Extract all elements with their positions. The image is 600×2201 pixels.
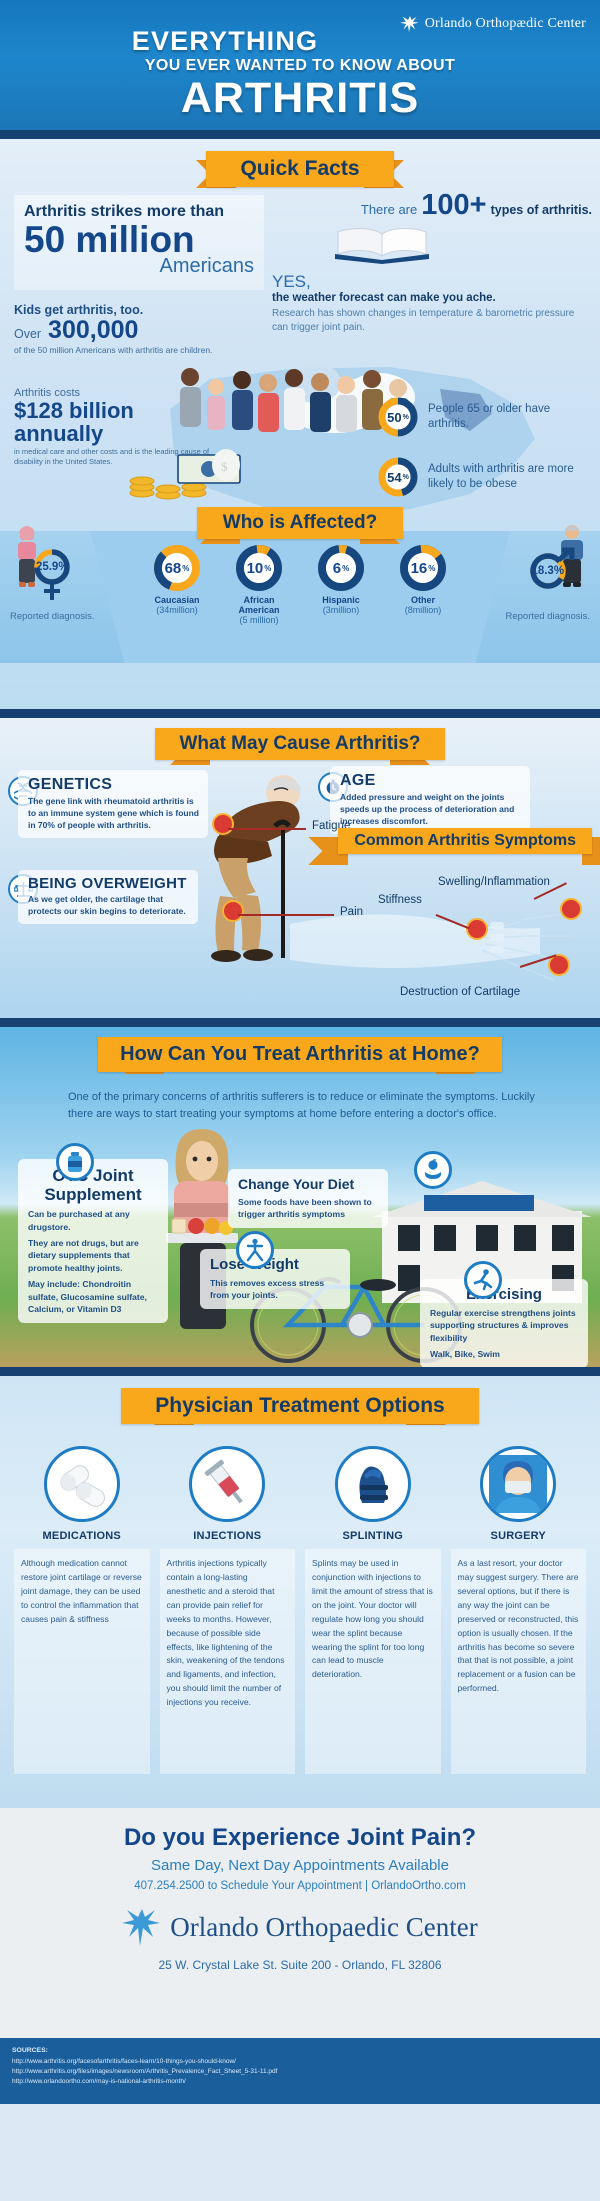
stat-65-or-older: 50% People 65 or older have arthritis. bbox=[378, 397, 588, 437]
quick-facts-banner: Quick Facts bbox=[0, 151, 600, 187]
types-number: 100+ bbox=[421, 189, 486, 222]
age-body: Added pressure and weight on the joints … bbox=[340, 791, 522, 827]
syringe-icon bbox=[189, 1446, 265, 1522]
kids-over: Over bbox=[14, 327, 41, 341]
footer-contact[interactable]: 407.254.2500 to Schedule Your Appointmen… bbox=[0, 1880, 600, 1892]
page-title: ARTHRITIS bbox=[0, 74, 600, 123]
section-divider-3 bbox=[0, 1367, 600, 1376]
footer-address: 25 W. Crystal Lake St. Suite 200 - Orlan… bbox=[0, 1958, 600, 1972]
option-body: As a last resort, your doctor may sugges… bbox=[451, 1549, 587, 1774]
money-graphic: $ bbox=[120, 441, 255, 507]
symptom-label-stiffness: Stiffness bbox=[378, 894, 422, 906]
quick-facts-section: Quick Facts bbox=[0, 139, 600, 709]
lose-weight-body: This removes excess stress from your joi… bbox=[210, 1277, 340, 1302]
donut-african-american: 10% bbox=[234, 543, 284, 593]
header-divider bbox=[0, 130, 600, 139]
donut-hispanic-value: 6 bbox=[333, 560, 341, 577]
types-suffix: types of arthritis. bbox=[491, 203, 592, 217]
brand-logo: Orlando Orthopædic Center bbox=[399, 14, 586, 34]
otc-body-2: They are not drugs, but are dietary supp… bbox=[28, 1237, 158, 1274]
ethnicity-group-list: 68% Caucasian (34million) 10% African Am… bbox=[0, 543, 600, 625]
ethnicity-name: Hispanic bbox=[304, 595, 378, 605]
physician-option: SPLINTING Splints may be used in conjunc… bbox=[305, 1446, 441, 1774]
svg-text:$: $ bbox=[221, 459, 228, 474]
footer-cta-section: Do you Experience Joint Pain? Same Day, … bbox=[0, 1808, 600, 2038]
physician-option: SURGERY As a last resort, your doctor ma… bbox=[451, 1446, 587, 1774]
genetics-body: The gene link with rheumatoid arthritis … bbox=[28, 795, 200, 831]
donut-african-american-pct: % bbox=[264, 564, 271, 573]
running-person-icon bbox=[464, 1261, 502, 1299]
stat-kids: Kids get arthritis, too. Over 300,000 of… bbox=[14, 303, 214, 357]
source-link[interactable]: http://www.arthritis.org/files/images/ne… bbox=[12, 2067, 588, 2077]
option-body: Although medication cannot restore joint… bbox=[14, 1549, 150, 1774]
footer-logo-text: Orlando Orthopaedic Center bbox=[170, 1912, 477, 1943]
otc-body-1: Can be purchased at any drugstore. bbox=[28, 1208, 158, 1233]
symptom-label-cartilage: Destruction of Cartilage bbox=[400, 986, 520, 998]
stat-strikes: Arthritis strikes more than 50 million A… bbox=[14, 195, 264, 290]
stat-65-text: People 65 or older have arthritis. bbox=[428, 402, 588, 432]
option-title: INJECTIONS bbox=[160, 1530, 296, 1542]
donut-54-value: 54 bbox=[387, 470, 401, 485]
causes-section: What May Cause Arthritis? bbox=[0, 718, 600, 1018]
weather-body: Research has shown changes in temperatur… bbox=[272, 307, 592, 335]
splint-icon bbox=[335, 1446, 411, 1522]
option-title: SURGERY bbox=[451, 1530, 587, 1542]
ethnicity-name: Other bbox=[386, 595, 460, 605]
ethnicity-count: (8million) bbox=[386, 605, 460, 615]
donut-50-value: 50 bbox=[387, 410, 401, 425]
option-title: SPLINTING bbox=[305, 1530, 441, 1542]
source-link[interactable]: http://www.arthritis.org/facesofarthriti… bbox=[12, 2057, 588, 2067]
donut-other: 16% bbox=[398, 543, 448, 593]
apple-in-hand-icon bbox=[414, 1151, 452, 1189]
diet-title: Change Your Diet bbox=[238, 1176, 378, 1192]
tip-lose-weight: Lose Weight This removes excess stress f… bbox=[200, 1249, 350, 1309]
physician-banner: Physician Treatment Options bbox=[0, 1376, 600, 1424]
donut-other-pct: % bbox=[428, 564, 435, 573]
footer-running-man-icon bbox=[122, 1906, 162, 1948]
exercise-body-1: Regular exercise strengthens joints supp… bbox=[430, 1307, 578, 1344]
symptom-dot-pain bbox=[222, 900, 244, 922]
otc-body-3: May include: Chondroitin sulfate, Glucos… bbox=[28, 1278, 158, 1315]
home-banner-label: How Can You Treat Arthritis at Home? bbox=[98, 1037, 502, 1072]
weather-yes: YES, bbox=[272, 272, 592, 292]
donut-50-pct: % bbox=[403, 414, 409, 421]
leader-line-fatigue bbox=[228, 828, 306, 830]
ethnicity-count: (5 million) bbox=[222, 615, 296, 625]
ethnicity-count: (3million) bbox=[304, 605, 378, 615]
kids-title: Kids get arthritis, too. bbox=[14, 303, 214, 317]
sources-label: SOURCES: bbox=[12, 2046, 588, 2057]
physician-options-section: Physician Treatment Options MEDICATIONS … bbox=[0, 1376, 600, 1808]
cause-overweight: BEING OVERWEIGHT As we get older, the ca… bbox=[18, 870, 198, 924]
donut-54: 54% bbox=[378, 457, 418, 497]
pills-icon bbox=[44, 1446, 120, 1522]
overweight-title: BEING OVERWEIGHT bbox=[28, 876, 190, 892]
diet-body: Some foods have been shown to trigger ar… bbox=[238, 1196, 378, 1221]
donut-hispanic: 6% bbox=[316, 543, 366, 593]
option-body: Splints may be used in conjunction with … bbox=[305, 1549, 441, 1774]
otc-title: OTC Joint Supplement bbox=[28, 1166, 158, 1204]
section-divider-2 bbox=[0, 1018, 600, 1027]
symptom-dot-stiffness bbox=[466, 918, 488, 940]
home-treatment-section: How Can You Treat Arthritis at Home? One… bbox=[0, 1027, 600, 1367]
page-header: EVERYTHING YOU EVER WANTED TO KNOW ABOUT… bbox=[0, 0, 600, 130]
tip-exercising: Exercising Regular exercise strengthens … bbox=[420, 1279, 588, 1367]
quick-facts-banner-label: Quick Facts bbox=[206, 151, 393, 187]
exercise-title: Exercising bbox=[430, 1286, 578, 1303]
causes-banner: What May Cause Arthritis? bbox=[0, 728, 600, 760]
symptom-label-pain: Pain bbox=[340, 906, 363, 918]
ethnicity-count: (34million) bbox=[140, 605, 214, 615]
ethnicity-name: Caucasian bbox=[140, 595, 214, 605]
cost-number: $128 billion bbox=[14, 399, 214, 422]
donut-54-pct: % bbox=[403, 474, 409, 481]
ethnicity-item: 6% Hispanic (3million) bbox=[304, 543, 378, 625]
lose-weight-title: Lose Weight bbox=[210, 1256, 340, 1273]
ethnicity-item: 68% Caucasian (34million) bbox=[140, 543, 214, 625]
age-title: AGE bbox=[340, 772, 522, 790]
causes-banner-label: What May Cause Arthritis? bbox=[155, 728, 444, 760]
weather-bold: the weather forecast can make you ache. bbox=[272, 292, 592, 304]
option-title: MEDICATIONS bbox=[14, 1530, 150, 1542]
exercise-body-2: Walk, Bike, Swim bbox=[430, 1348, 578, 1360]
physician-banner-label: Physician Treatment Options bbox=[121, 1388, 478, 1424]
weather-fact: YES, the weather forecast can make you a… bbox=[272, 272, 592, 335]
sources-section: SOURCES: http://www.arthritis.org/faceso… bbox=[0, 2038, 600, 2104]
stat-types: There are 100+ types of arthritis. YES, … bbox=[272, 189, 592, 335]
yoga-pose-icon bbox=[236, 1231, 274, 1269]
footer-headline: Do you Experience Joint Pain? bbox=[0, 1824, 600, 1852]
symptom-label-swelling: Swelling/Inflammation bbox=[438, 876, 550, 888]
physician-option: INJECTIONS Arthritis injections typicall… bbox=[160, 1446, 296, 1774]
footer-subline: Same Day, Next Day Appointments Availabl… bbox=[0, 1857, 600, 1874]
ethnicity-item: 16% Other (8million) bbox=[386, 543, 460, 625]
surgeon-icon bbox=[480, 1446, 556, 1522]
kids-sub: of the 50 million Americans with arthrit… bbox=[14, 345, 214, 356]
symptom-dot-fatigue bbox=[212, 813, 234, 835]
donut-hispanic-pct: % bbox=[342, 564, 349, 573]
genetics-title: GENETICS bbox=[28, 776, 200, 794]
physician-options-list: MEDICATIONS Although medication cannot r… bbox=[14, 1446, 586, 1774]
home-banner: How Can You Treat Arthritis at Home? bbox=[0, 1027, 600, 1072]
donut-other-value: 16 bbox=[411, 560, 428, 577]
who-affected-banner-label: Who is Affected? bbox=[197, 507, 403, 539]
donut-caucasian-value: 68 bbox=[165, 560, 182, 577]
leader-line-pain bbox=[238, 914, 334, 916]
ethnicity-item: 10% African American (5 million) bbox=[222, 543, 296, 625]
stat-obese-text: Adults with arthritis are more likely to… bbox=[428, 462, 588, 492]
infographic-page: EVERYTHING YOU EVER WANTED TO KNOW ABOUT… bbox=[0, 0, 600, 2201]
tip-otc-supplement: OTC Joint Supplement Can be purchased at… bbox=[18, 1159, 168, 1323]
footer-logo: Orlando Orthopaedic Center bbox=[0, 1906, 600, 1948]
running-man-logo-icon bbox=[399, 14, 421, 34]
kids-number: 300,000 bbox=[48, 316, 138, 344]
supplement-bottle-icon bbox=[56, 1143, 94, 1181]
strikes-number: 50 million bbox=[24, 222, 254, 257]
types-prefix: There are bbox=[361, 202, 417, 217]
donut-caucasian-pct: % bbox=[182, 564, 189, 573]
symptoms-banner-label: Common Arthritis Symptoms bbox=[338, 828, 592, 854]
tip-change-diet: Change Your Diet Some foods have been sh… bbox=[228, 1169, 388, 1228]
header-line-2: YOU EVER WANTED TO KNOW ABOUT bbox=[0, 57, 600, 75]
source-link[interactable]: http://www.orlandoortho.com/may-is-natio… bbox=[12, 2077, 588, 2087]
who-affected-banner: Who is Affected? bbox=[0, 507, 600, 539]
symptoms-banner: Common Arthritis Symptoms bbox=[338, 828, 592, 854]
option-body: Arthritis injections typically contain a… bbox=[160, 1549, 296, 1774]
brand-logo-text: Orlando Orthopædic Center bbox=[425, 16, 586, 32]
donut-50: 50% bbox=[378, 397, 418, 437]
section-divider-1 bbox=[0, 709, 600, 718]
symptom-dot-swelling bbox=[560, 898, 582, 920]
cause-age: AGE Added pressure and weight on the joi… bbox=[330, 766, 530, 834]
donut-caucasian: 68% bbox=[152, 543, 202, 593]
ethnicity-name: African American bbox=[222, 595, 296, 615]
stat-obese: 54% Adults with arthritis are more likel… bbox=[378, 457, 588, 497]
open-book-icon bbox=[332, 224, 592, 264]
home-intro-text: One of the primary concerns of arthritis… bbox=[68, 1089, 538, 1123]
cause-genetics: GENETICS The gene link with rheumatoid a… bbox=[18, 770, 208, 838]
physician-option: MEDICATIONS Although medication cannot r… bbox=[14, 1446, 150, 1774]
overweight-body: As we get older, the cartilage that prot… bbox=[28, 893, 190, 917]
donut-african-american-value: 10 bbox=[247, 560, 264, 577]
